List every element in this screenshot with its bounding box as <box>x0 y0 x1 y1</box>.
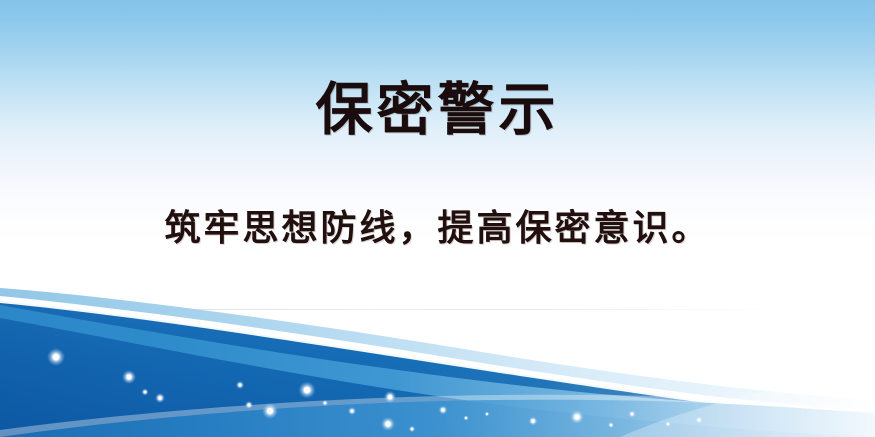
page-subtitle: 筑牢思想防线，提高保密意识。 <box>0 207 875 250</box>
page-title: 保密警示 <box>0 78 875 144</box>
confidentiality-warning-banner: 保密警示 筑牢思想防线，提高保密意识。 <box>0 0 875 437</box>
